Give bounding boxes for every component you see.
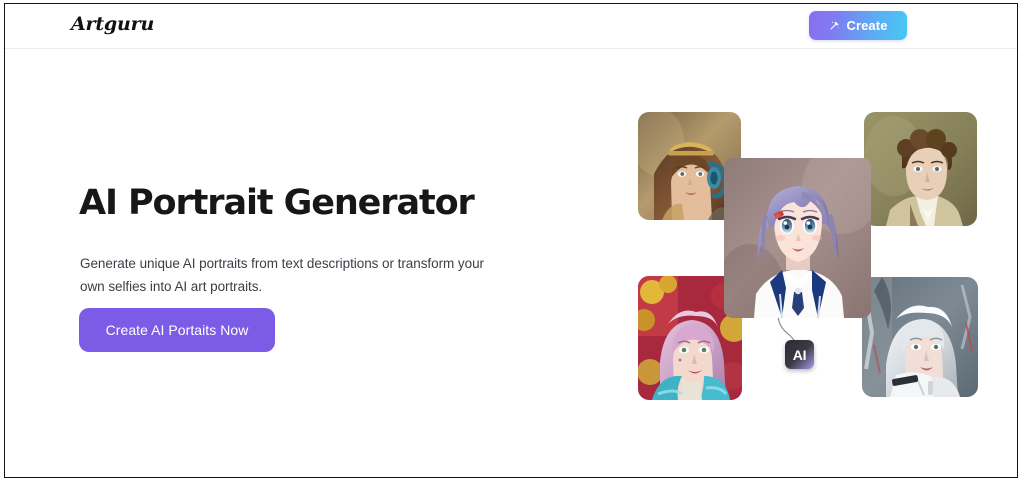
create-button[interactable]: Create <box>809 11 907 40</box>
page-frame: Artguru Create AI Portrait Generator Gen… <box>4 3 1018 478</box>
create-button-label: Create <box>846 19 887 32</box>
page-title: AI Portrait Generator <box>79 184 474 223</box>
ai-tag-badge-label: AI <box>793 348 806 362</box>
site-header: Artguru Create <box>5 4 1017 49</box>
portrait-image-top-right <box>864 112 977 226</box>
ai-tag-badge[interactable]: AI <box>785 340 814 369</box>
portrait-image-bottom-right <box>862 277 978 397</box>
portrait-featured-center[interactable] <box>724 158 871 318</box>
portrait-collage: AI <box>625 100 997 412</box>
hero-subtitle: Generate unique AI portraits from text d… <box>80 252 492 298</box>
portrait-thumbnail-top-right[interactable] <box>864 112 977 226</box>
magic-wand-icon <box>828 19 841 32</box>
portrait-thumbnail-bottom-right[interactable] <box>862 277 978 397</box>
brand-logo[interactable]: Artguru <box>71 13 154 35</box>
create-ai-portraits-button[interactable]: Create AI Portaits Now <box>79 308 275 352</box>
portrait-image-center <box>724 158 871 318</box>
